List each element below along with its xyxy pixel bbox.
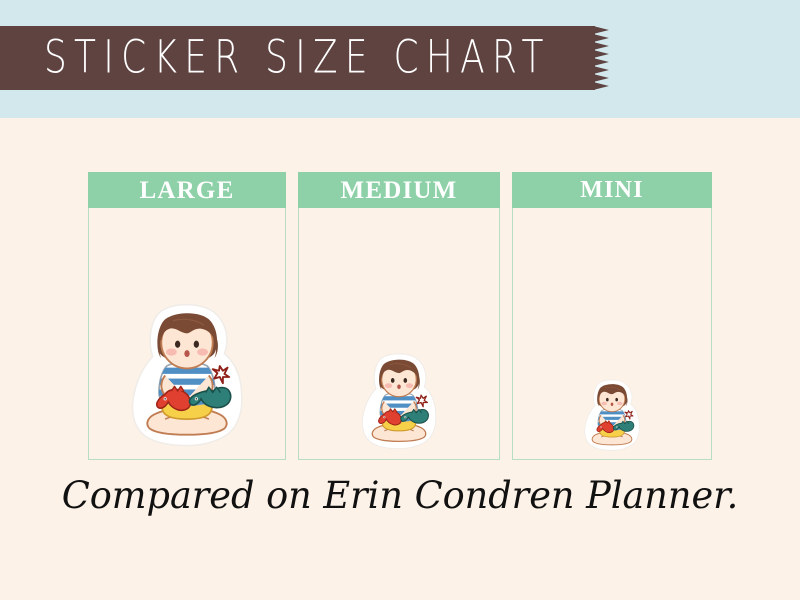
size-card-large[interactable]: LARGE: [88, 172, 286, 460]
size-card-body-mini: [513, 209, 711, 459]
size-card-medium[interactable]: MEDIUM: [298, 172, 500, 460]
caption-text: Compared on Erin Condren Planner.: [4, 468, 796, 524]
banner-title: STICKER SIZE CHART: [44, 19, 573, 97]
size-card-label-large: LARGE: [140, 178, 235, 203]
sticker-mini: [581, 377, 643, 455]
size-card-header-medium: MEDIUM: [298, 172, 500, 208]
banner: STICKER SIZE CHART: [0, 26, 612, 90]
size-card-body-large: [89, 209, 285, 459]
size-card-label-medium: MEDIUM: [341, 178, 458, 203]
size-card-label-mini: MINI: [580, 178, 643, 202]
boy-with-dinosaur-toys-icon: [357, 350, 441, 455]
size-card-header-mini: MINI: [512, 172, 712, 208]
boy-with-dinosaur-toys-icon: [125, 299, 250, 455]
size-card-mini[interactable]: MINI: [512, 172, 712, 460]
boy-with-dinosaur-toys-icon: [581, 377, 643, 455]
size-card-body-medium: [299, 209, 499, 459]
sticker-size-chart-page: STICKER SIZE CHART LARGE: [0, 0, 800, 600]
banner-zigzag-edge-icon: [593, 26, 613, 90]
sticker-medium: [357, 350, 441, 455]
size-card-header-large: LARGE: [88, 172, 286, 208]
sticker-large: [125, 299, 250, 455]
size-comparison-cards: LARGE: [0, 172, 800, 462]
